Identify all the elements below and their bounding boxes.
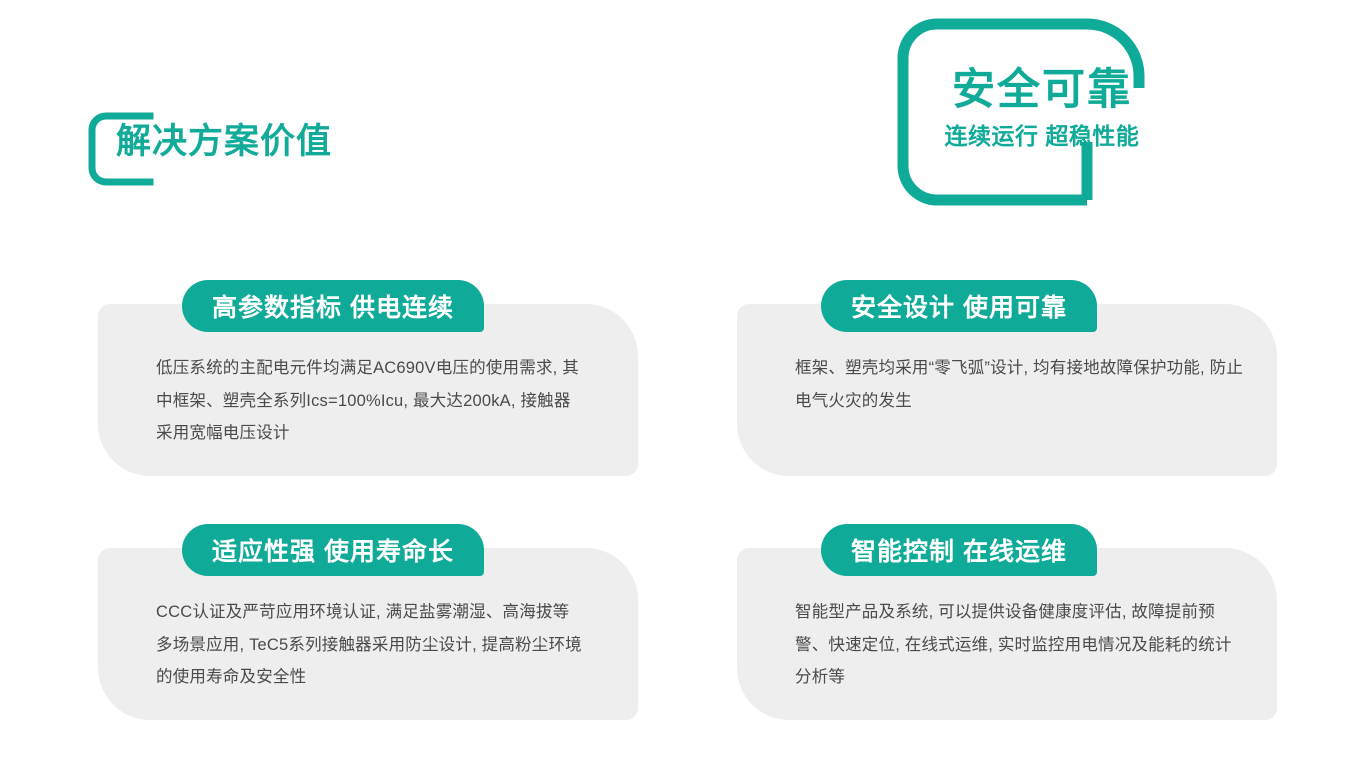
feature-card: 适应性强 使用寿命长 CCC认证及严苛应用环境认证, 满足盐雾潮湿、高海拔等多场… bbox=[98, 548, 638, 720]
feature-card-body: CCC认证及严苛应用环境认证, 满足盐雾潮湿、高海拔等多场景应用, TeC5系列… bbox=[156, 596, 584, 694]
feature-card-title: 智能控制 在线运维 bbox=[821, 524, 1097, 576]
feature-card-body: 框架、塑壳均采用“零飞弧”设计, 均有接地故障保护功能, 防止电气火灾的发生 bbox=[795, 352, 1247, 417]
page-root: 解决方案价值 安全可靠 连续运行 超稳性能 高参数指标 供电连续 低压系统的主配… bbox=[0, 0, 1350, 782]
feature-card-body: 智能型产品及系统, 可以提供设备健康度评估, 故障提前预警、快速定位, 在线式运… bbox=[795, 596, 1247, 694]
feature-card: 安全设计 使用可靠 框架、塑壳均采用“零飞弧”设计, 均有接地故障保护功能, 防… bbox=[737, 304, 1277, 476]
feature-card-grid: 高参数指标 供电连续 低压系统的主配电元件均满足AC690V电压的使用需求, 其… bbox=[0, 0, 1350, 782]
feature-card: 智能控制 在线运维 智能型产品及系统, 可以提供设备健康度评估, 故障提前预警、… bbox=[737, 548, 1277, 720]
feature-card-title: 适应性强 使用寿命长 bbox=[182, 524, 484, 576]
feature-card-body: 低压系统的主配电元件均满足AC690V电压的使用需求, 其中框架、塑壳全系列Ic… bbox=[156, 352, 584, 450]
feature-card-title: 安全设计 使用可靠 bbox=[821, 280, 1097, 332]
feature-card-title: 高参数指标 供电连续 bbox=[182, 280, 484, 332]
feature-card: 高参数指标 供电连续 低压系统的主配电元件均满足AC690V电压的使用需求, 其… bbox=[98, 304, 638, 476]
